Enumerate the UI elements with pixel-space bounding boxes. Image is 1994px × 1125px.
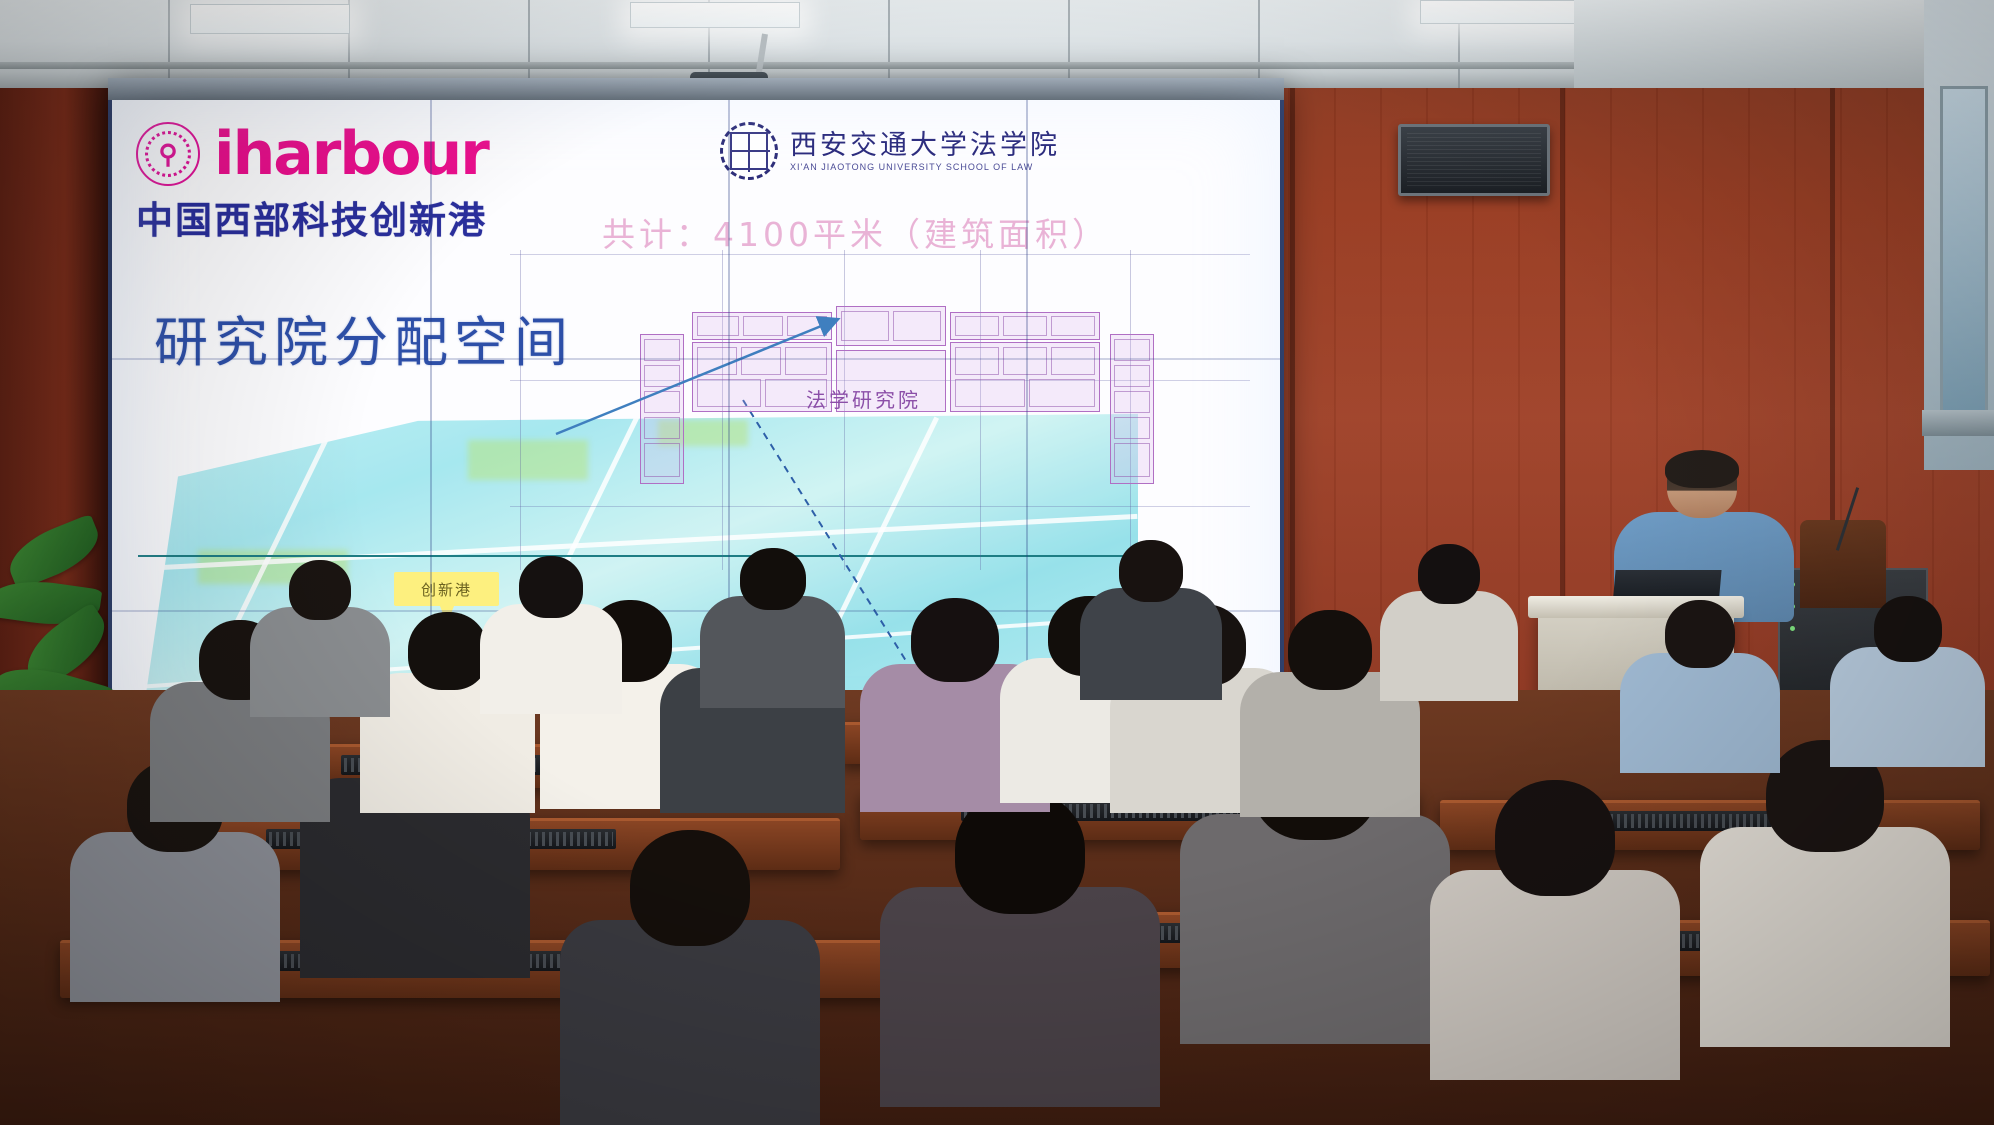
iharbour-circle-logo-icon: ⚲ <box>136 122 200 186</box>
audience-member-body <box>1700 827 1950 1047</box>
lecture-hall-scene: 创新港 <box>0 0 1994 1125</box>
audience-member-head <box>911 598 999 682</box>
iharbour-subtitle: 中国西部科技创新港 <box>136 190 488 244</box>
audience-member <box>250 560 390 730</box>
audience-member <box>1830 596 1985 782</box>
audience-member <box>1700 740 1950 1072</box>
window <box>1940 86 1988 416</box>
audience-member-head <box>1418 544 1480 604</box>
university-name-cn: 西安交通大学法学院 <box>790 129 1060 163</box>
audience-member-body <box>1180 814 1450 1044</box>
audience-member <box>1430 780 1680 1106</box>
audience-member-body <box>560 920 820 1125</box>
ceiling-light <box>190 4 350 34</box>
ceiling-light <box>1420 0 1600 24</box>
audience-member-head <box>740 548 806 610</box>
audience-member-head <box>1288 610 1372 690</box>
floorplan-caption: 共计：4100平米（建筑面积） <box>602 208 1109 256</box>
university-logo: 西安交通大学法学院 XI'AN JIAOTONG UNIVERSITY SCHO… <box>720 122 1060 180</box>
audience-member-body <box>480 604 622 714</box>
audience-member-body <box>700 596 845 708</box>
slide-title: 研究院分配空间 <box>154 298 574 377</box>
audience-member <box>480 556 622 728</box>
university-name-en: XI'AN JIAOTONG UNIVERSITY SCHOOL OF LAW <box>790 162 1060 173</box>
screen-bezel <box>108 78 1284 100</box>
audience-member-body <box>1830 647 1985 767</box>
audience-member-head <box>630 830 750 946</box>
audience-member-head <box>1665 600 1735 668</box>
presenter-hair <box>1665 450 1739 488</box>
audience-member <box>1620 600 1780 788</box>
audience-member-head <box>1119 540 1183 602</box>
pointer-arrow-icon <box>550 310 850 440</box>
iharbour-brand: ⚲ iharbour 中国西部科技创新港 <box>136 122 488 244</box>
audience-member-head <box>1495 780 1615 896</box>
audience-member-body <box>1430 870 1680 1080</box>
audience-member-head <box>289 560 351 620</box>
audience-member <box>880 790 1160 1125</box>
architectural-floorplan: 法学研究院 <box>510 250 1250 570</box>
iharbour-wordmark: iharbour <box>214 124 488 184</box>
audience-member-head <box>408 612 488 690</box>
audience-member-body <box>880 887 1160 1107</box>
wall-mounted-speaker <box>1398 124 1550 196</box>
audience-member <box>1380 544 1518 714</box>
audience-member <box>1080 540 1222 714</box>
audience-member-head <box>1874 596 1942 662</box>
audience-member <box>700 548 845 722</box>
audience-member-body <box>1080 588 1222 700</box>
audience-member-body <box>70 832 280 1002</box>
audience-member-body <box>1620 653 1780 773</box>
audience-member-body <box>1380 591 1518 701</box>
audience-member <box>560 830 820 1125</box>
audience-member-head <box>519 556 583 618</box>
ceiling-light <box>630 2 800 28</box>
audience-member-body <box>250 607 390 717</box>
window-sill <box>1922 410 1994 436</box>
